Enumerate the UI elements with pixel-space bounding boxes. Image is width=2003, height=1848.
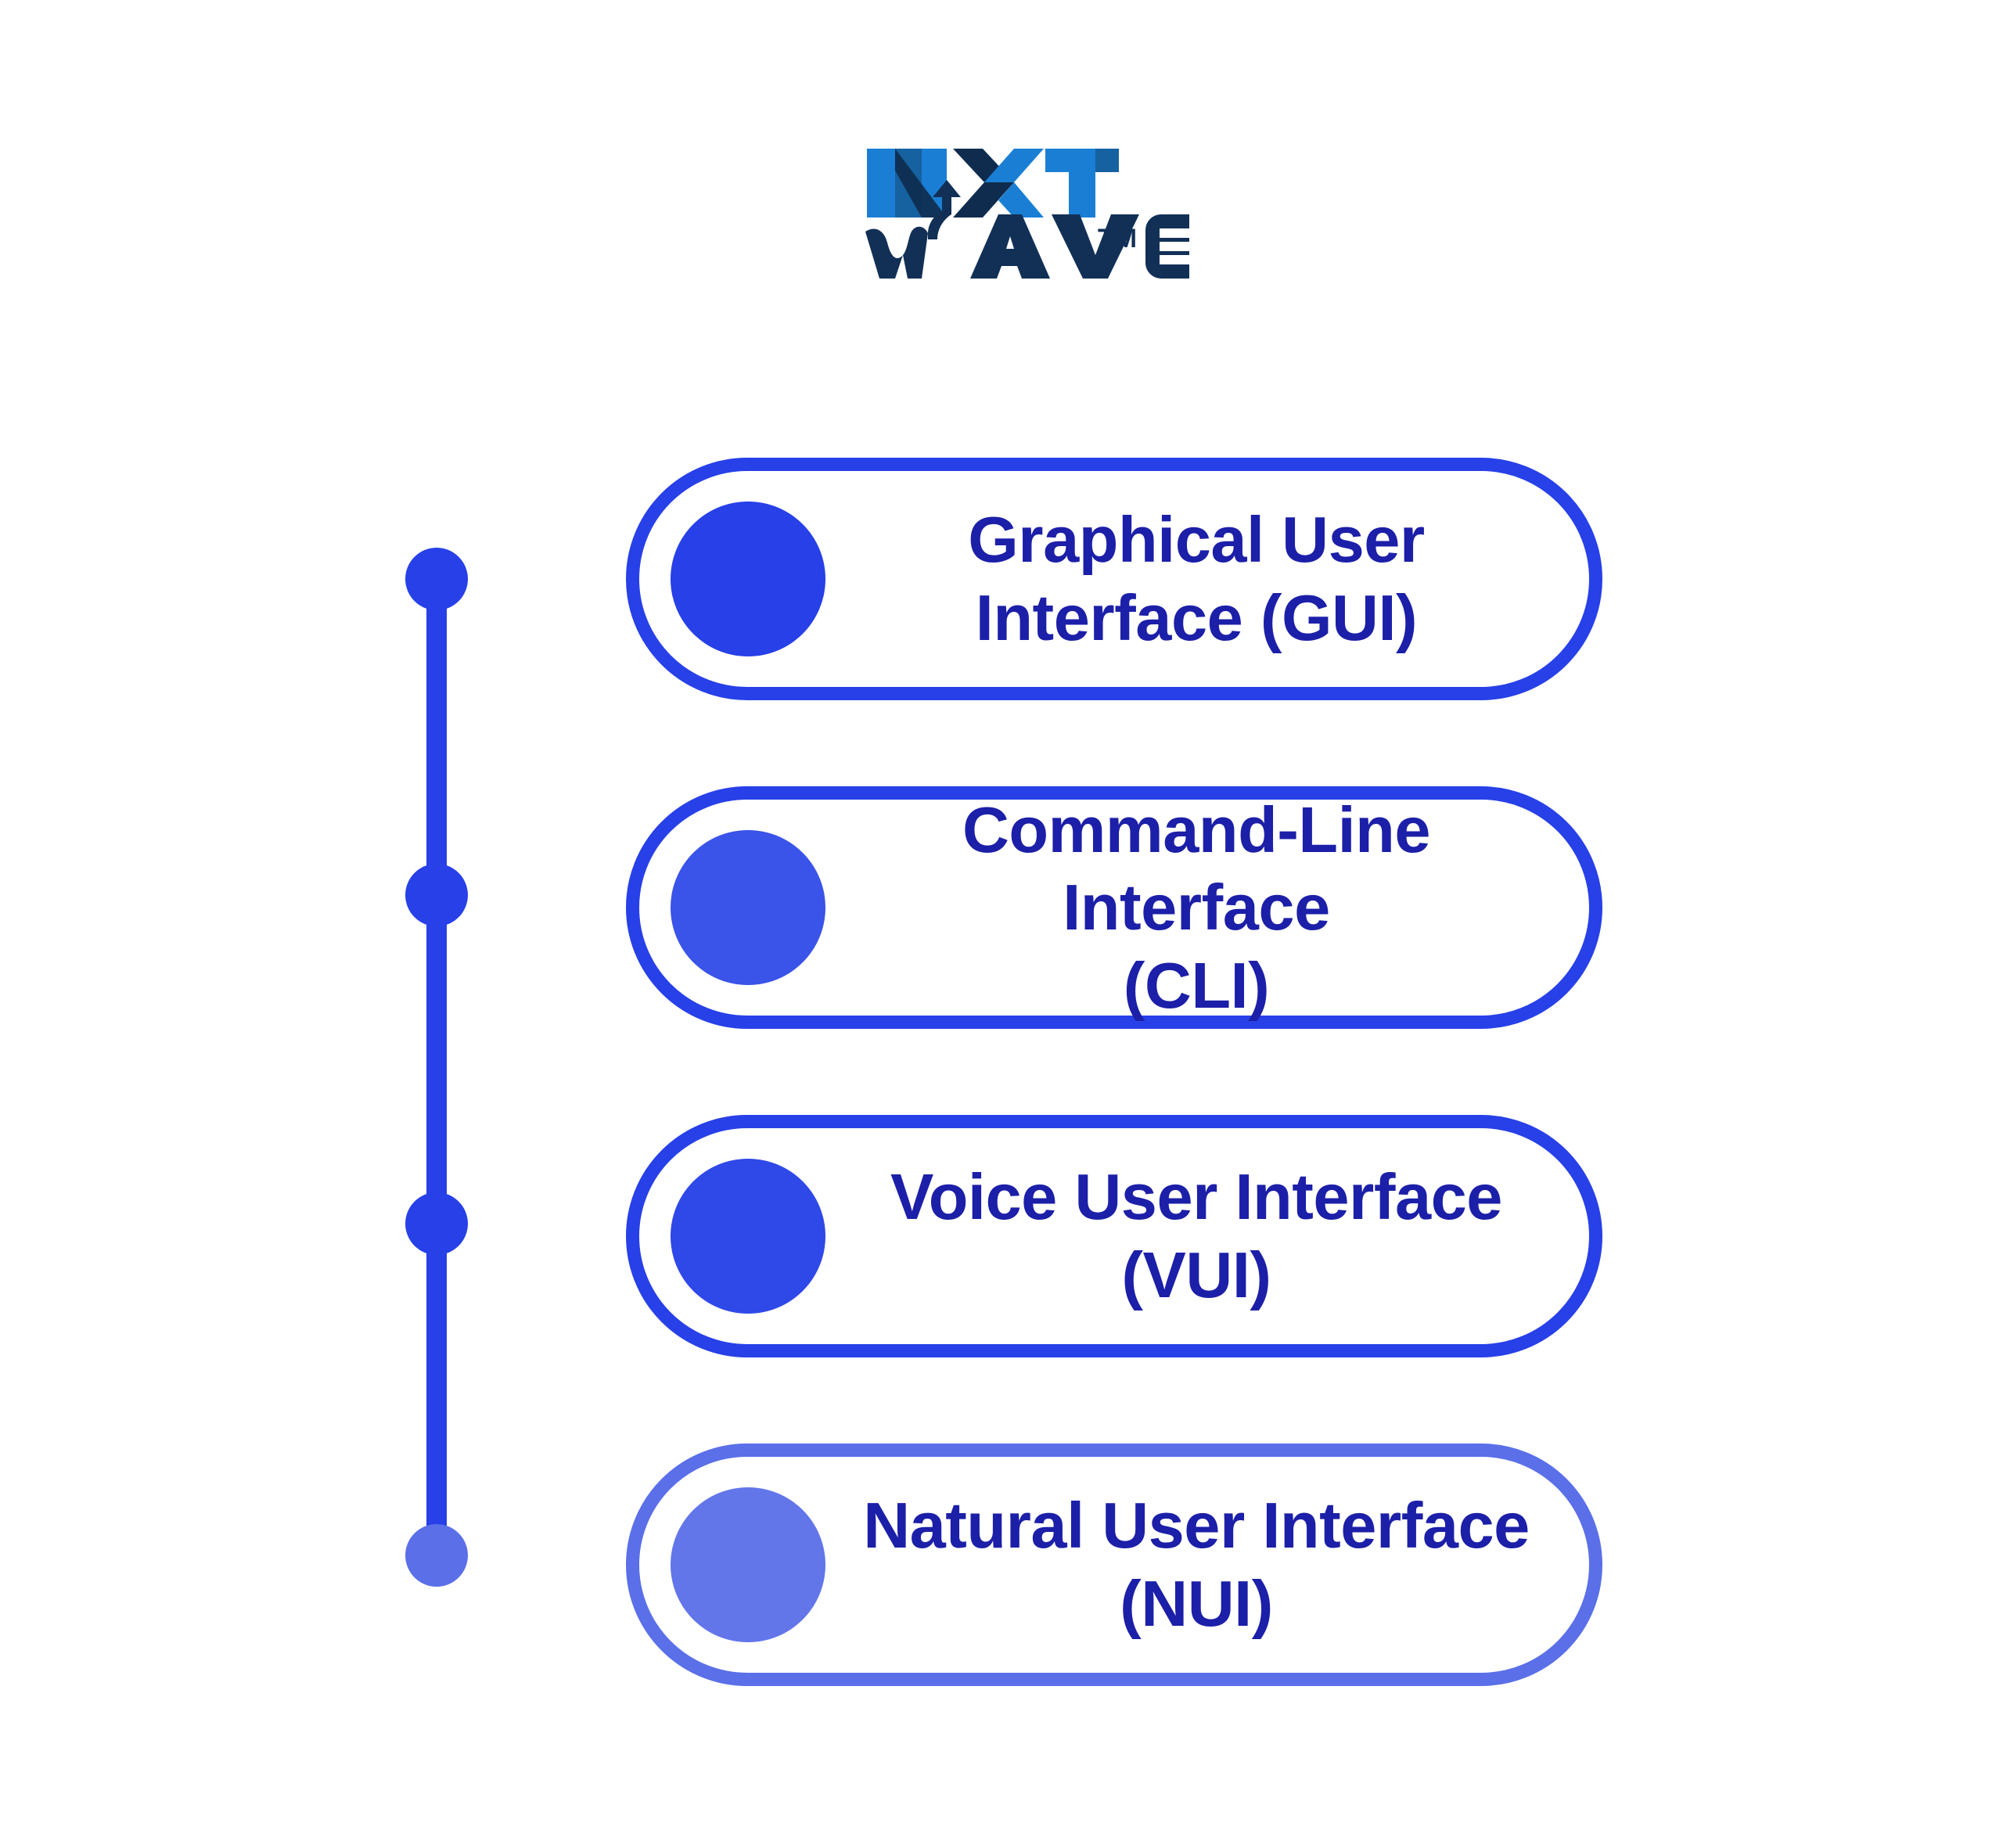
card-cli[interactable]: Command-Line Interface (CLI): [626, 786, 1602, 1029]
card-gui-line2: Interface (GUI): [841, 579, 1552, 657]
nxtwave-logo-mark: [861, 139, 1189, 284]
card-vui-line2: (VUI): [841, 1236, 1552, 1314]
bullet-icon: [671, 1159, 825, 1314]
timeline-dot-3[interactable]: [405, 1192, 468, 1255]
timeline: [390, 548, 484, 1768]
timeline-dot-4[interactable]: [405, 1524, 468, 1587]
interface-type-list: Graphical User Interface (GUI) Command-L…: [626, 458, 1620, 1772]
card-cli-line2: (CLI): [841, 947, 1552, 1025]
timeline-track: [426, 576, 447, 1585]
timeline-dot-2[interactable]: [405, 864, 468, 926]
card-gui-label: Graphical User Interface (GUI): [825, 501, 1589, 656]
card-gui-line1: Graphical User: [968, 503, 1424, 576]
card-nui-line2: (NUI): [841, 1565, 1552, 1643]
card-vui[interactable]: Voice User Interface (VUI): [626, 1115, 1602, 1357]
trademark-symbol: TM: [1098, 224, 1138, 254]
card-nui-line1: Natural User Interface: [863, 1489, 1530, 1562]
card-gui[interactable]: Graphical User Interface (GUI): [626, 458, 1602, 700]
card-cli-label: Command-Line Interface (CLI): [825, 791, 1589, 1025]
card-nui[interactable]: Natural User Interface (NUI): [626, 1444, 1602, 1686]
nxtwave-logo: TM: [861, 139, 1189, 284]
logo-nxt-wordmark: [867, 149, 1119, 218]
bullet-icon: [671, 830, 825, 985]
card-vui-line1: Voice User Interface: [890, 1160, 1502, 1233]
timeline-dot-1[interactable]: [405, 548, 468, 610]
bullet-icon: [671, 1487, 825, 1642]
card-cli-line1: Command-Line Interface: [962, 793, 1430, 944]
bullet-icon: [671, 502, 825, 656]
card-nui-label: Natural User Interface (NUI): [825, 1487, 1589, 1642]
card-vui-label: Voice User Interface (VUI): [825, 1158, 1589, 1314]
